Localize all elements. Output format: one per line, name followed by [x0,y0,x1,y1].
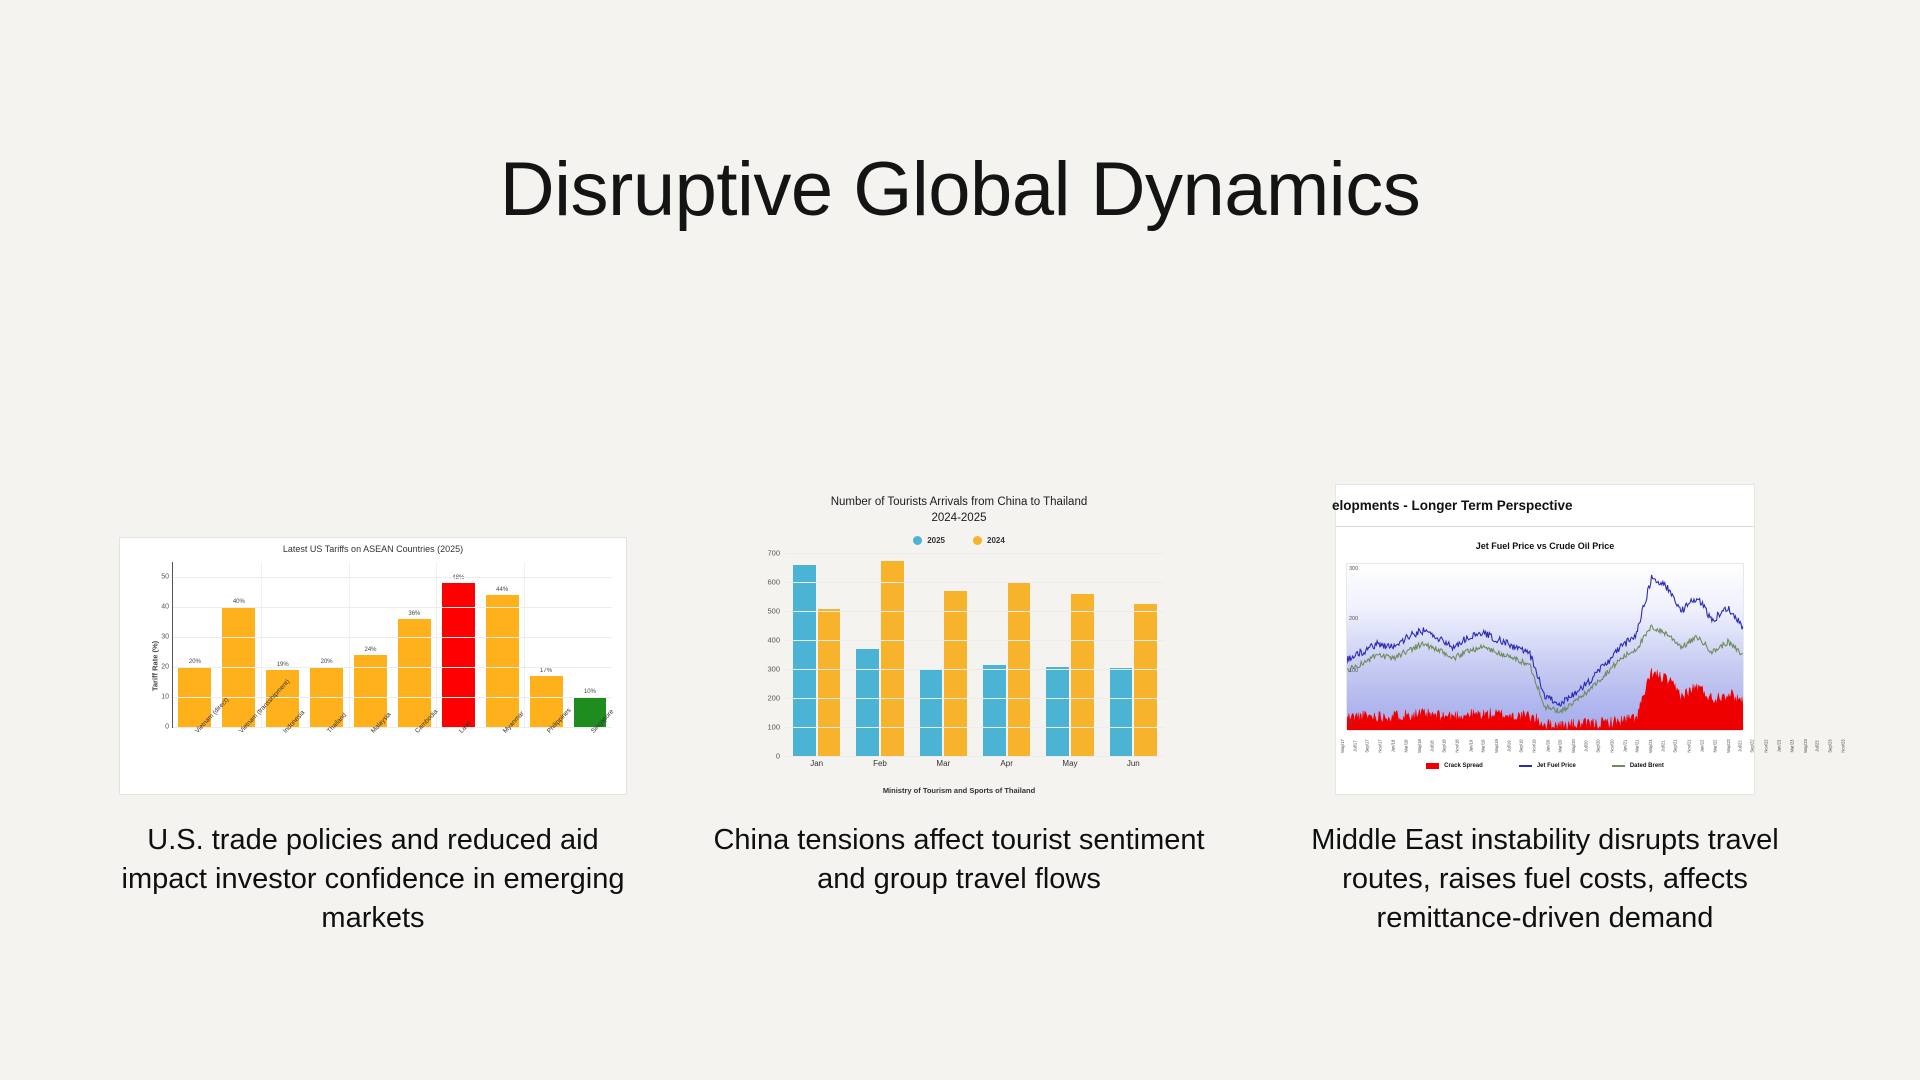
chart-2-bar[interactable] [983,665,1006,756]
chart-2-gridline [785,582,1165,583]
chart-3-legend-item[interactable]: Jet Fuel Price [1519,763,1576,769]
chart-1-wrap: Latest US Tariffs on ASEAN Countries (20… [80,400,666,795]
tariff-bar-chart[interactable]: Latest US Tariffs on ASEAN Countries (20… [119,537,627,795]
content-columns: Latest US Tariffs on ASEAN Countries (20… [80,400,1840,1020]
chart-1-bar-value: 20% [189,659,201,665]
caption-fuel: Middle East instability disrupts travel … [1290,821,1800,938]
chart-1-y-tick: 40 [161,604,169,611]
chart-2-legend-label: 2025 [927,536,945,545]
chart-3-panel-header: elopments - Longer Term Perspective [1336,485,1754,527]
chart-2-y-tick: 200 [767,694,780,703]
chart-2-bar-groups [785,553,1165,756]
chart-3-legend-item[interactable]: Dated Brent [1612,763,1664,769]
caption-tourists: China tensions affect tourist sentiment … [704,821,1214,899]
chart-1-bar[interactable]: 48% [442,583,475,727]
chart-3-ytick-100: 100 [1349,668,1358,674]
column-tourists: Number of Tourists Arrivals from China t… [666,400,1252,1020]
chart-2-y-tick: 600 [767,578,780,587]
chart-2-gridline [785,611,1165,612]
chart-2-subtitle: 2024-2025 [749,511,1169,527]
chart-1-bar-item[interactable]: 20% [310,562,343,727]
chart-3-legend-label: Crack Spread [1444,763,1483,769]
chart-2-x-tick: Feb [855,759,904,775]
chart-2-gridline [785,640,1165,641]
chart-1-plot-area: 20%40%19%20%24%36%48%44%17%10% 010203040… [172,562,612,728]
chart-1-y-tick: 50 [161,574,169,581]
chart-2-bar[interactable] [856,649,879,756]
legend-dot-icon [973,536,982,545]
chart-2-bar[interactable] [920,670,943,756]
chart-2-bar[interactable] [944,591,967,756]
chart-2-y-tick: 300 [767,665,780,674]
slide-root: Disruptive Global Dynamics Latest US Tar… [0,0,1920,1080]
page-title: Disruptive Global Dynamics [0,150,1920,230]
legend-swatch-icon [1612,765,1625,767]
chart-2-y-tick: 700 [767,549,780,558]
chart-2-gridline [785,669,1165,670]
chart-1-y-tick: 0 [165,724,169,731]
chart-2-y-tick: 0 [776,752,780,761]
chart-3-body: Jet Fuel Price vs Crude Oil Price 300 [1336,527,1754,796]
chart-3-legend-item[interactable]: Crack Spread [1426,763,1483,769]
chart-3-panel-header-text: elopments - Longer Term Perspective [1332,498,1573,513]
chart-3-legend[interactable]: Crack SpreadJet Fuel PriceDated Brent [1336,763,1754,769]
chart-2-x-tick: Jun [1109,759,1158,775]
chart-2-x-tick: May [1045,759,1094,775]
chart-2-legend[interactable]: 20252024 [749,536,1169,545]
chart-1-title: Latest US Tariffs on ASEAN Countries (20… [120,544,626,554]
chart-2-bar[interactable] [1071,594,1094,756]
chart-1-y-tick: 10 [161,694,169,701]
chart-2-source: Ministry of Tourism and Sports of Thaila… [749,786,1169,795]
chart-2-bar-group[interactable] [982,553,1031,756]
chart-2-gridline [785,756,1165,757]
chart-2-wrap: Number of Tourists Arrivals from China t… [666,400,1252,795]
chart-1-bar-value: 44% [496,587,508,593]
chart-2-bar-group[interactable] [792,553,841,756]
chart-3-plot-area: 300 200 100 0 [1346,563,1744,731]
chart-1-bar-item[interactable]: 48% [442,562,475,727]
chart-3-series-svg [1347,564,1743,730]
chart-2-bar[interactable] [1046,667,1069,756]
chart-2-x-tick: Jan [792,759,841,775]
chart-2-gridline [785,727,1165,728]
chart-1-gridline-v [436,562,437,727]
chart-2-legend-label: 2024 [987,536,1005,545]
chart-2-x-tick: Mar [919,759,968,775]
column-tariffs: Latest US Tariffs on ASEAN Countries (20… [80,400,666,1020]
chart-1-bar-item[interactable]: 36% [398,562,431,727]
chart-2-legend-item[interactable]: 2025 [913,536,945,545]
chart-3-ytick-200: 200 [1349,616,1358,622]
chart-2-x-tick: Apr [982,759,1031,775]
chart-1-gridline [173,697,612,698]
chart-1-bar-item[interactable]: 24% [354,562,387,727]
chart-2-gridline [785,698,1165,699]
chart-2-y-tick: 400 [767,636,780,645]
chart-1-bar-value: 10% [584,689,596,695]
chart-1-bars: 20%40%19%20%24%36%48%44%17%10% [173,562,612,727]
chart-1-bar-value: 20% [321,659,333,665]
chart-3-wrap: elopments - Longer Term Perspective Jet … [1252,400,1838,795]
column-fuel: elopments - Longer Term Perspective Jet … [1252,400,1838,1020]
chart-3-x-axis-labels: May/17Jul/17Sep/17Nov/17Jan/18Mar/18May/… [1346,733,1744,759]
chart-2-bar-group[interactable] [855,553,904,756]
chart-2-bar-group[interactable] [1045,553,1094,756]
chart-1-bar-item[interactable]: 17% [530,562,563,727]
chart-3-legend-label: Dated Brent [1630,763,1664,769]
chart-1-bar-value: 36% [408,611,420,617]
chart-1-gridline [173,667,612,668]
chart-2-bar[interactable] [1134,604,1157,756]
caption-tariffs: U.S. trade policies and reduced aid impa… [118,821,628,938]
chart-2-y-tick: 100 [767,723,780,732]
chart-1-gridline [173,607,612,608]
chart-3-ytick-300: 300 [1349,566,1358,572]
chart-1-gridline-v [349,562,350,727]
chart-1-bar-item[interactable]: 20% [178,562,211,727]
chart-1-gridline [173,577,612,578]
chart-2-legend-item[interactable]: 2024 [973,536,1005,545]
chart-1-gridline-v [524,562,525,727]
chart-2-bar[interactable] [818,609,841,756]
chart-1-bar[interactable]: 44% [486,595,519,727]
chart-1-bar-value: 24% [364,647,376,653]
chart-1-y-tick: 20 [161,664,169,671]
legend-dot-icon [913,536,922,545]
chart-3-ytick-0: 0 [1349,720,1352,726]
chart-1-bar-value: 40% [233,599,245,605]
chart-3-title: Jet Fuel Price vs Crude Oil Price [1346,541,1744,551]
legend-swatch-icon [1519,765,1532,767]
chart-2-title: Number of Tourists Arrivals from China t… [749,495,1169,526]
chart-2-plot-area: 0100200300400500600700 [785,553,1165,757]
chart-1-gridline-v [261,562,262,727]
chart-1-bar-item[interactable]: 10% [574,562,607,727]
chart-2-bar-group[interactable] [1109,553,1158,756]
chart-2-bar-group[interactable] [919,553,968,756]
chart-1-bar-item[interactable]: 44% [486,562,519,727]
chart-3-x-tick: Nov/23 [1841,739,1867,752]
chart-2-x-axis-labels: JanFebMarAprMayJun [785,759,1165,775]
chart-3-legend-label: Jet Fuel Price [1537,763,1576,769]
chart-2-bar[interactable] [1110,668,1133,756]
jet-fuel-panel[interactable]: elopments - Longer Term Perspective Jet … [1335,484,1755,795]
chart-1-bar[interactable]: 36% [398,619,431,727]
chart-1-y-axis-label: Tariff Rate (%) [151,641,160,691]
chart-2-title-line1: Number of Tourists Arrivals from China t… [749,495,1169,511]
chart-2-gridline [785,553,1165,554]
chart-2-y-tick: 500 [767,607,780,616]
chart-1-x-axis-labels: Vietnam (direct)Vietnam (transshipment)I… [172,728,612,794]
legend-swatch-icon [1426,763,1439,769]
chart-1-y-tick: 30 [161,634,169,641]
chart-1-gridline [173,637,612,638]
chart-1-bar-value: 48% [452,575,464,581]
chart-1-bar-value: 17% [540,668,552,674]
tourist-arrivals-chart[interactable]: Number of Tourists Arrivals from China t… [749,495,1169,795]
